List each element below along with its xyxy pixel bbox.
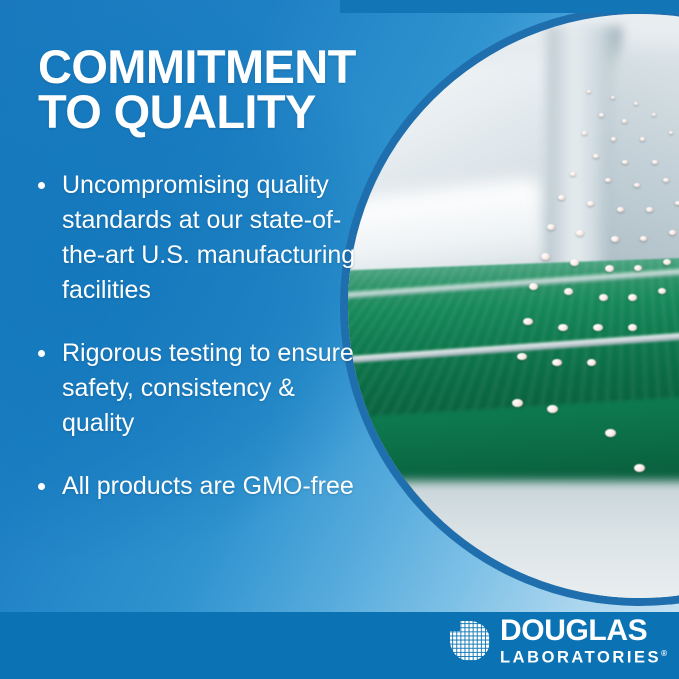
registered-trademark-icon: ® <box>661 649 667 658</box>
list-item-label: All products are GMO-free <box>62 472 354 500</box>
photo-tablet <box>558 324 568 331</box>
commitment-to-quality-poster: COMMITMENT TO QUALITY Uncompromising qua… <box>0 0 679 679</box>
bullet-dot-icon <box>38 182 45 189</box>
list-item: Rigorous testing to ensure safety, consi… <box>38 336 362 441</box>
photo-tablet <box>547 224 555 230</box>
photo-tablet <box>547 405 558 413</box>
photo-tablet <box>593 324 603 331</box>
photo-tablet <box>576 230 584 236</box>
photo-tablet <box>582 131 587 135</box>
production-line-photo <box>348 14 679 598</box>
logo-subbrand-name: LABORATORIES® <box>500 645 667 667</box>
douglas-grid-sphere-icon <box>449 620 491 662</box>
photo-tablet <box>605 178 611 182</box>
photo-floor <box>348 481 679 598</box>
photo-top-trim <box>340 0 679 13</box>
list-item: All products are GMO-free <box>38 469 362 504</box>
list-item-label: Uncompromising quality standards at our … <box>62 171 355 304</box>
photo-tablet <box>529 283 538 290</box>
logo-wordmark: DOUGLAS LABORATORIES® <box>500 617 667 667</box>
photo-tablet <box>669 131 673 134</box>
photo-tablet <box>663 178 669 182</box>
logo-subbrand-text: LABORATORIES <box>500 648 661 666</box>
benefit-list: Uncompromising quality standards at our … <box>38 168 368 504</box>
photo-tablet <box>634 464 645 472</box>
bullet-dot-icon <box>38 483 45 490</box>
list-item: Uncompromising quality standards at our … <box>38 168 362 308</box>
photo-tablet <box>675 201 679 205</box>
photo-tablet <box>628 324 637 331</box>
photo-tablet <box>517 353 527 360</box>
logo-brand-name: DOUGLAS <box>500 617 647 645</box>
photo-tablet <box>587 359 596 366</box>
page-title: COMMITMENT TO QUALITY <box>38 44 368 134</box>
photo-tablet <box>640 137 645 141</box>
photo-tablet <box>605 429 616 437</box>
photo-tablet <box>634 102 638 105</box>
photo-tablet <box>570 172 576 176</box>
copy-column: COMMITMENT TO QUALITY Uncompromising qua… <box>38 44 368 504</box>
photo-tablet <box>611 137 616 141</box>
photo-tablet <box>652 160 658 164</box>
photo-tablet <box>617 207 624 212</box>
photo-tablet <box>523 318 533 325</box>
photo-tablet <box>552 359 562 366</box>
photo-tablet <box>611 236 619 242</box>
brand-logo: DOUGLAS LABORATORIES® <box>449 617 667 667</box>
photo-tablet <box>640 236 647 241</box>
headline-line-2: TO QUALITY <box>38 89 368 134</box>
list-item-label: Rigorous testing to ensure safety, consi… <box>62 339 354 437</box>
photo-tablet <box>646 207 653 212</box>
photo-tablet <box>611 96 615 99</box>
bullet-dot-icon <box>38 350 45 357</box>
